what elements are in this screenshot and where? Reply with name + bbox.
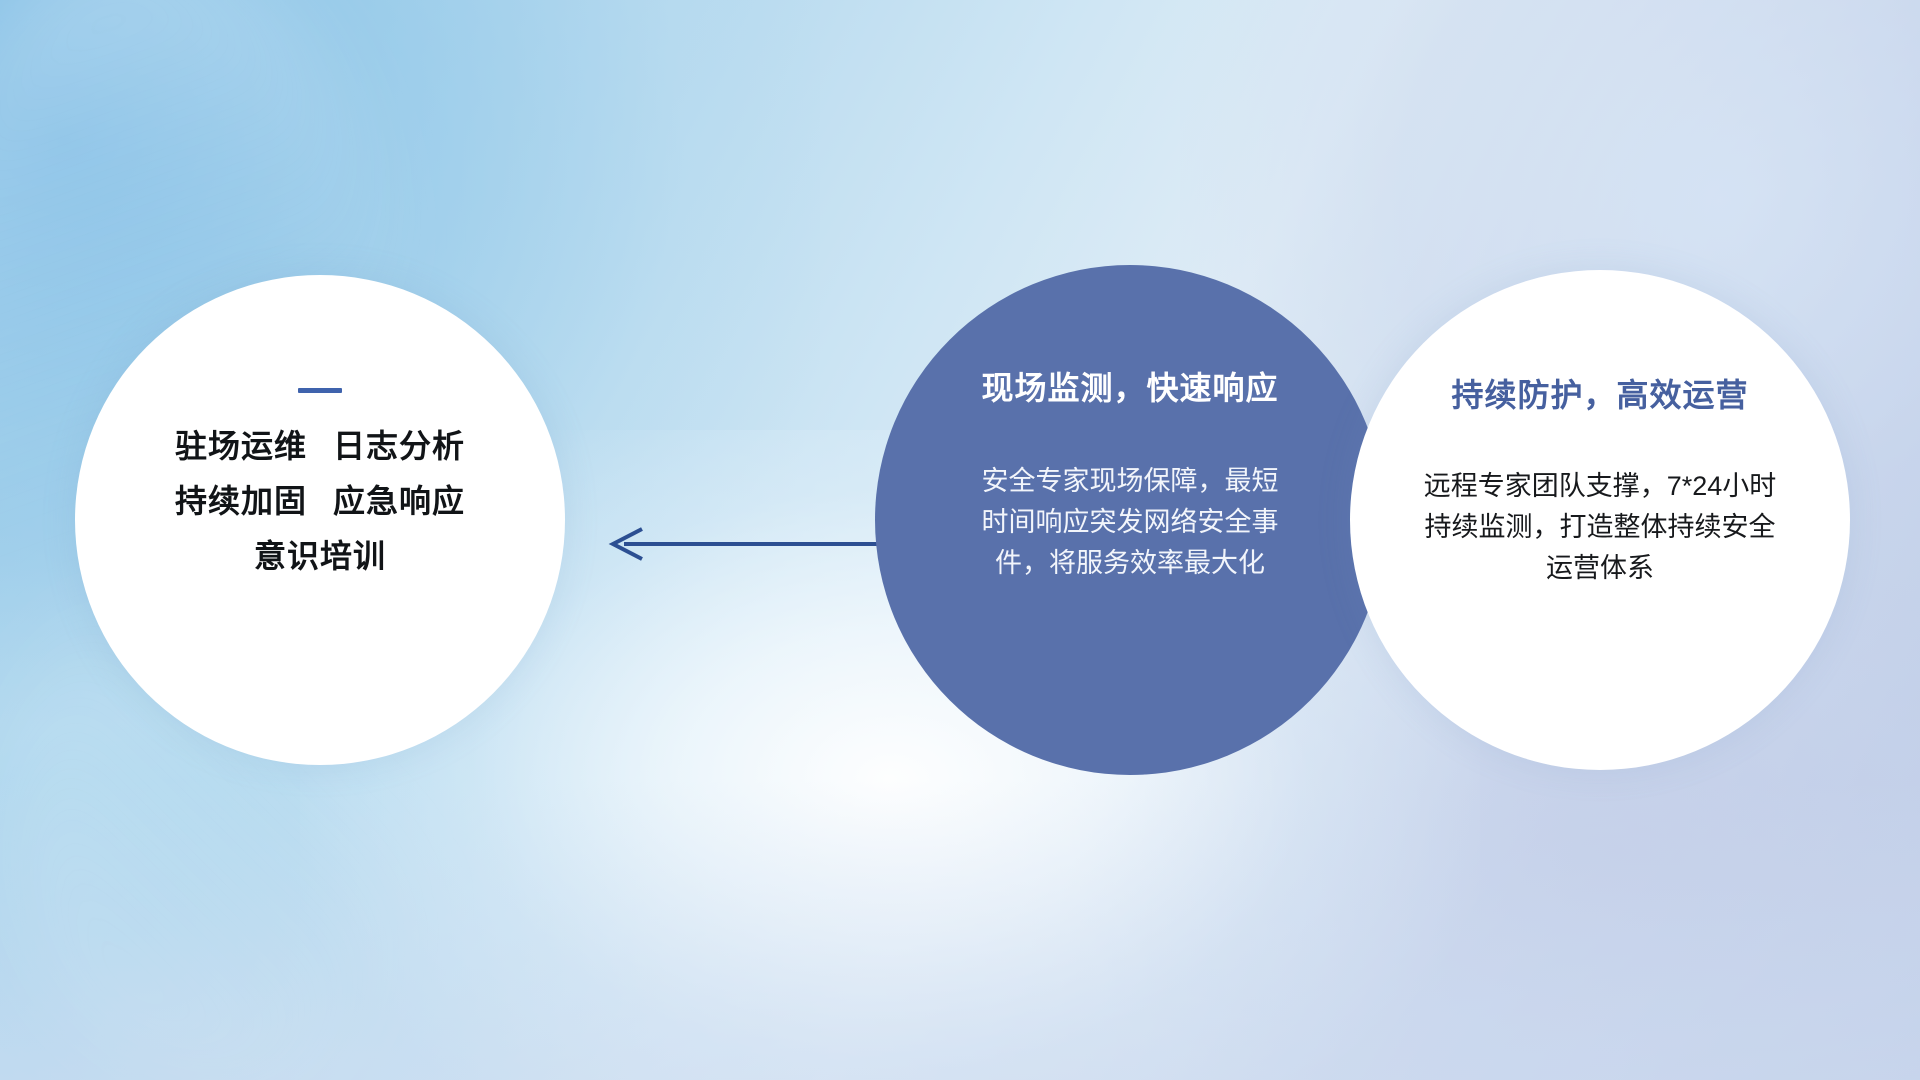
connector-arrow-icon (600, 518, 890, 570)
capability-card-right: 持续防护，高效运营 远程专家团队支撑，7*24小时持续监测，打造整体持续安全运营… (1350, 270, 1850, 770)
middle-card-title: 现场监测，快速响应 (981, 363, 1278, 409)
middle-card-body: 安全专家现场保障，最短时间响应突发网络安全事件，将服务效率最大化 (978, 461, 1282, 584)
capability-item-incident-response: 应急响应 (333, 483, 465, 519)
background-bottom-sheen (0, 780, 1920, 1080)
capability-list: 驻场运维日志分析 持续加固应急响应 意识培训 (75, 429, 565, 575)
capability-item-awareness-training: 意识培训 (254, 538, 386, 574)
capability-item-hardening: 持续加固 (175, 483, 307, 519)
capability-item-onsite-ops: 驻场运维 (175, 428, 307, 464)
capability-item-log-analysis: 日志分析 (333, 428, 465, 464)
capability-row-3: 意识培训 (75, 539, 565, 574)
capability-row-1: 驻场运维日志分析 (75, 429, 565, 464)
capability-card-left: 驻场运维日志分析 持续加固应急响应 意识培训 (75, 275, 565, 765)
divider-dash (298, 388, 342, 393)
slide-canvas: 驻场运维日志分析 持续加固应急响应 意识培训 现场监测，快速响应 安全专家现场保… (0, 0, 1920, 1080)
right-card-body: 远程专家团队支撑，7*24小时持续监测，打造整体持续安全运营体系 (1414, 466, 1786, 589)
right-card-title: 持续防护，高效运营 (1451, 370, 1748, 416)
capability-row-2: 持续加固应急响应 (75, 484, 565, 519)
capability-card-middle: 现场监测，快速响应 安全专家现场保障，最短时间响应突发网络安全事件，将服务效率最… (875, 265, 1385, 775)
